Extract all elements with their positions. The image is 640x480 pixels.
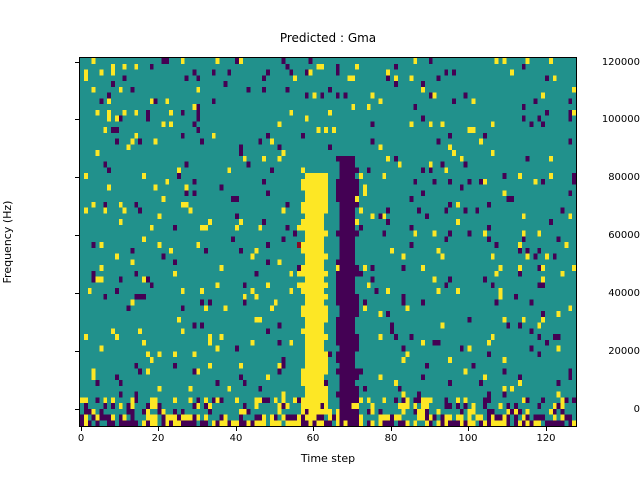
y-tick-label-0: 0 bbox=[570, 405, 640, 415]
x-tick-label-60: 60 bbox=[283, 434, 343, 444]
x-tick-label-80: 80 bbox=[361, 434, 421, 444]
x-tick-mark-0 bbox=[81, 427, 82, 431]
y-axis-label-container: Frequency (Hz) bbox=[0, 57, 16, 427]
x-tick-label-0: 0 bbox=[51, 434, 111, 444]
y-tick-label-60000: 60000 bbox=[570, 231, 640, 241]
x-tick-label-120: 120 bbox=[516, 434, 576, 444]
x-tick-mark-80 bbox=[391, 427, 392, 431]
y-tick-label-120000: 120000 bbox=[570, 58, 640, 68]
x-tick-mark-60 bbox=[313, 427, 314, 431]
x-tick-mark-40 bbox=[236, 427, 237, 431]
y-tick-label-100000: 100000 bbox=[570, 115, 640, 125]
page-title: Predicted : Gma bbox=[79, 31, 577, 45]
y-axis-label: Frequency (Hz) bbox=[2, 201, 14, 284]
x-tick-label-40: 40 bbox=[206, 434, 266, 444]
x-axis-label: Time step bbox=[79, 452, 577, 465]
spectrogram-heatmap bbox=[80, 58, 576, 426]
heatmap-axes[interactable] bbox=[79, 57, 577, 427]
matplotlib-figure: Predicted : Gma Frequency (Hz) 120000 10… bbox=[0, 0, 640, 480]
x-tick-mark-120 bbox=[546, 427, 547, 431]
x-tick-label-20: 20 bbox=[128, 434, 188, 444]
x-tick-label-100: 100 bbox=[438, 434, 498, 444]
x-tick-mark-20 bbox=[158, 427, 159, 431]
y-tick-label-80000: 80000 bbox=[570, 173, 640, 183]
x-tick-mark-100 bbox=[468, 427, 469, 431]
y-tick-label-20000: 20000 bbox=[570, 347, 640, 357]
y-tick-label-40000: 40000 bbox=[570, 289, 640, 299]
